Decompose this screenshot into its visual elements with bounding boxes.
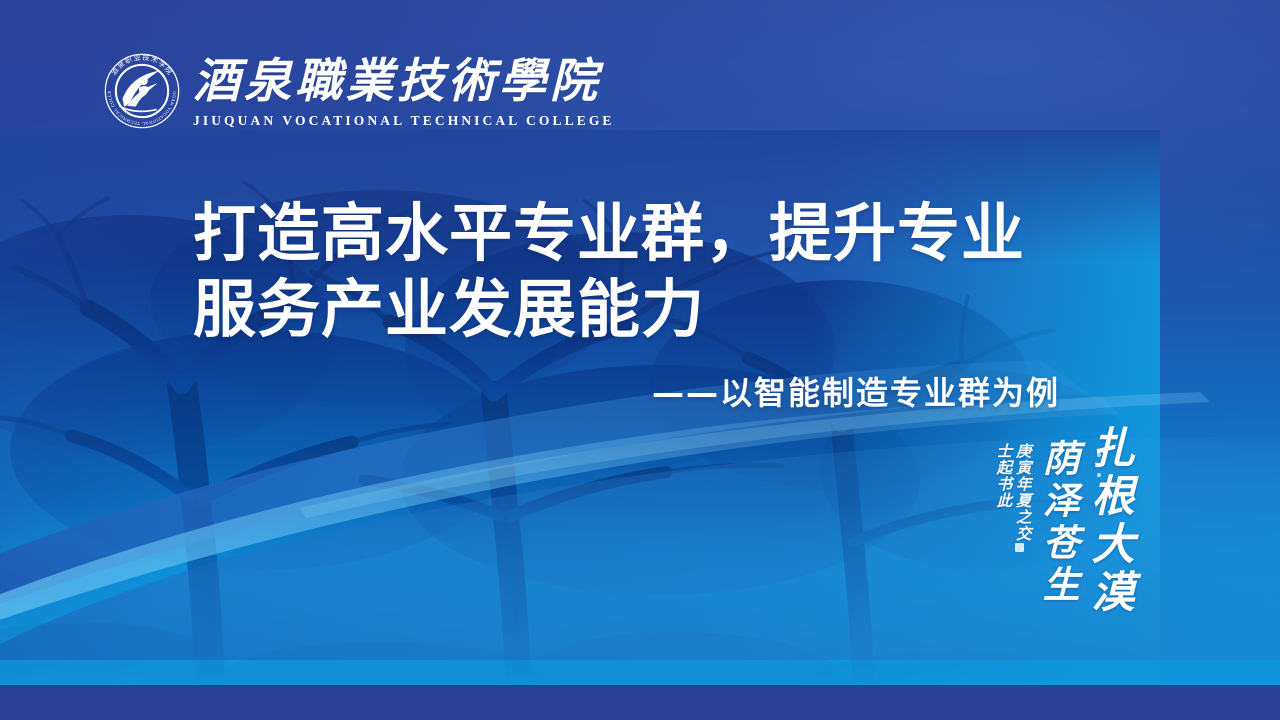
college-seal-icon: 酒泉职业技术学院 JIUQUAN VOCATIONAL TECHNICAL CO…: [103, 52, 181, 130]
college-name-block: 酒泉職業技術學院 JIUQUAN VOCATIONAL TECHNICAL CO…: [193, 55, 615, 127]
calligraphy-artwork: 士起书此 庚寅年夏之交 荫泽苍生 扎根大漠: [995, 425, 1134, 617]
title-slide: 酒泉职业技术学院 JIUQUAN VOCATIONAL TECHNICAL CO…: [0, 0, 1280, 720]
title-line-2: 服务产业发展能力: [193, 272, 1153, 348]
accent-dot: [1097, 453, 1101, 457]
title-line-1: 打造高水平专业群，提升专业: [193, 196, 1153, 272]
slide-subtitle: ——以智能制造专业群为例: [652, 374, 1060, 412]
slide-title: 打造高水平专业群，提升专业 服务产业发展能力: [193, 196, 1153, 348]
accent-dot: [1097, 473, 1101, 477]
calligraphy-accent-dots: [1097, 453, 1101, 477]
calligraphy-inscription: 士起书此 庚寅年夏之交: [995, 425, 1032, 542]
college-logo-lockup: 酒泉职业技术学院 JIUQUAN VOCATIONAL TECHNICAL CO…: [103, 52, 615, 130]
calligraphy-inscription-left: 士起书此: [995, 443, 1012, 542]
calligraphy-column-middle: 荫泽苍生: [1036, 425, 1080, 607]
calligraphy-inscription-right: 庚寅年夏之交: [1014, 443, 1031, 542]
calligraphy-column-right: 扎根大漠: [1083, 425, 1134, 617]
college-name-cn: 酒泉職業技術學院: [193, 57, 615, 107]
bottom-accent-bar: [0, 685, 1280, 720]
college-name-en: JIUQUAN VOCATIONAL TECHNICAL COLLEGE: [193, 114, 615, 128]
artist-seal-icon: [1015, 543, 1024, 552]
